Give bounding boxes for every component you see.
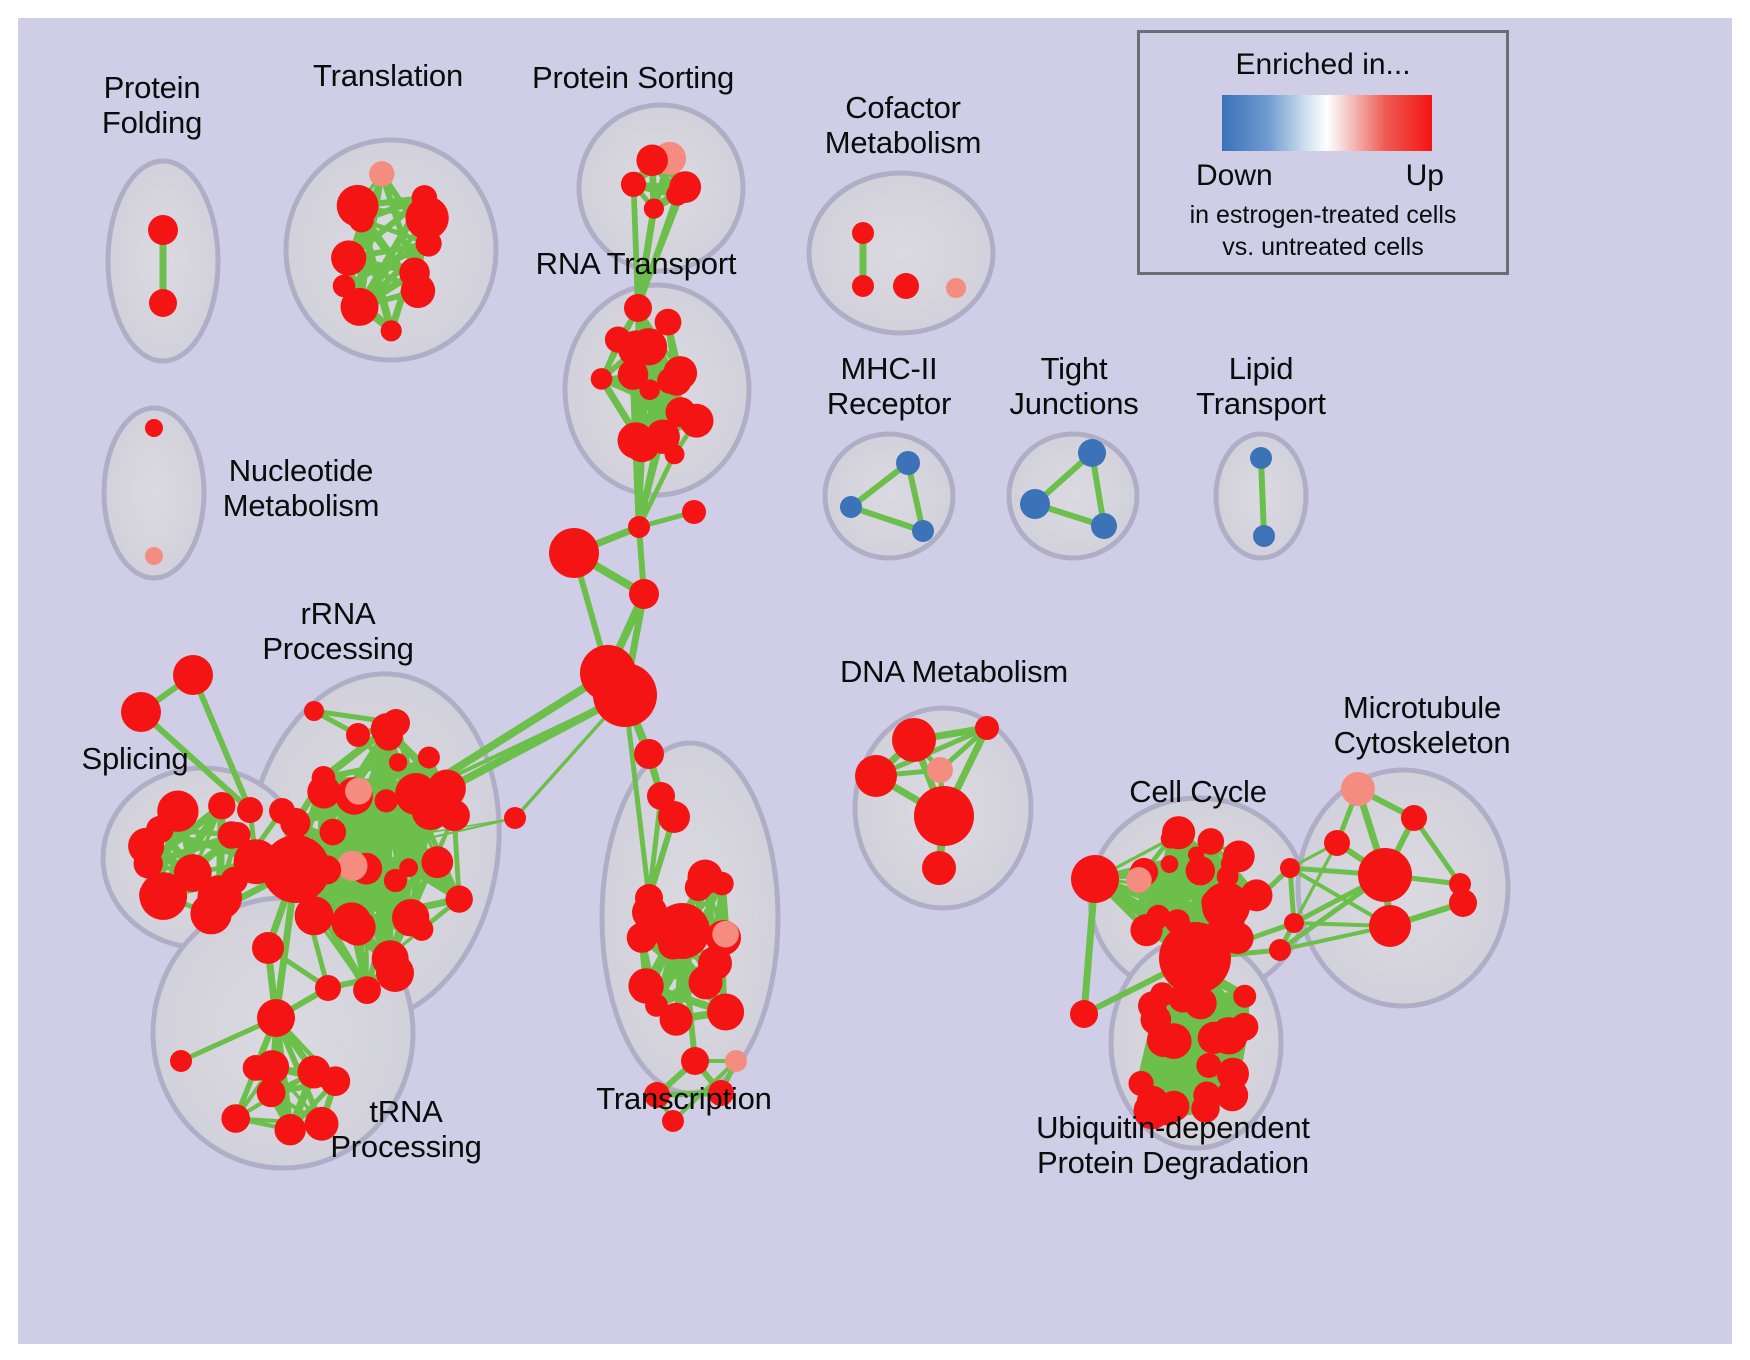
network-node xyxy=(1253,525,1275,547)
network-node xyxy=(707,994,744,1031)
cluster-label-ubiquitin-protein-degradation: Ubiquitin-dependent Protein Degradation xyxy=(1036,1110,1310,1180)
network-node xyxy=(269,798,295,824)
network-node xyxy=(337,851,367,881)
legend-color-bar xyxy=(1222,95,1432,151)
network-node xyxy=(381,320,402,341)
network-node xyxy=(438,800,470,832)
network-node xyxy=(333,275,356,298)
network-node xyxy=(665,444,685,464)
network-edge xyxy=(1261,458,1264,536)
network-node xyxy=(1280,858,1300,878)
figure-root: Protein FoldingTranslationNucleotide Met… xyxy=(0,0,1750,1360)
network-node xyxy=(896,451,920,475)
network-node xyxy=(1070,1000,1098,1028)
network-node xyxy=(852,222,874,244)
network-node xyxy=(221,867,248,894)
cluster-label-protein-folding: Protein Folding xyxy=(102,70,202,140)
cluster-label-nucleotide-metabolism: Nucleotide Metabolism xyxy=(223,453,380,523)
network-node xyxy=(927,757,953,783)
network-node xyxy=(221,1104,250,1133)
network-node xyxy=(639,982,657,1000)
legend-low-label: Down xyxy=(1196,159,1273,193)
network-node xyxy=(1161,829,1181,849)
network-node xyxy=(1250,447,1272,469)
cluster-label-cell-cycle: Cell Cycle xyxy=(1129,774,1267,809)
network-node xyxy=(146,816,173,843)
network-node xyxy=(410,918,433,941)
legend-box: Enriched in... Down Up in estrogen-treat… xyxy=(1137,30,1509,275)
network-node xyxy=(174,854,212,892)
network-canvas: Protein FoldingTranslationNucleotide Met… xyxy=(18,18,1732,1344)
legend-title: Enriched in... xyxy=(1140,48,1506,82)
network-node xyxy=(644,199,664,219)
network-node xyxy=(635,884,663,912)
network-node xyxy=(1193,1082,1220,1109)
network-node xyxy=(1146,910,1167,931)
network-node xyxy=(375,789,398,812)
network-node xyxy=(315,975,341,1001)
network-node xyxy=(252,932,284,964)
network-node xyxy=(855,755,897,797)
network-node xyxy=(418,747,440,769)
network-node xyxy=(1216,1080,1248,1112)
network-node xyxy=(321,1066,351,1096)
network-node xyxy=(309,913,329,933)
network-node xyxy=(1161,855,1179,873)
network-node xyxy=(399,258,430,289)
network-node xyxy=(639,379,660,400)
network-node xyxy=(446,885,473,912)
network-node xyxy=(655,309,682,336)
cluster-mhc-ii-receptor xyxy=(825,434,953,558)
network-node xyxy=(1230,1013,1258,1041)
network-node xyxy=(421,846,453,878)
network-node xyxy=(320,819,347,846)
cluster-label-mhc-ii-receptor: MHC-II Receptor xyxy=(827,351,951,421)
network-node xyxy=(975,716,999,740)
network-node xyxy=(1221,855,1239,873)
cluster-label-lipid-transport: Lipid Transport xyxy=(1196,351,1326,421)
network-node xyxy=(1241,879,1273,911)
network-node xyxy=(257,1078,286,1107)
network-node xyxy=(243,1055,269,1081)
network-node xyxy=(275,1114,306,1145)
network-node xyxy=(657,368,683,394)
network-node xyxy=(685,874,712,901)
network-node xyxy=(710,872,734,896)
cluster-label-tight-junctions: Tight Junctions xyxy=(1009,351,1138,421)
cluster-label-transcription: Transcription xyxy=(596,1081,771,1116)
legend-high-label: Up xyxy=(1406,159,1444,193)
network-node xyxy=(1214,895,1235,916)
network-node xyxy=(689,965,723,999)
network-node xyxy=(893,273,919,299)
network-node xyxy=(139,878,172,911)
network-node xyxy=(1401,805,1427,831)
network-node xyxy=(225,822,251,848)
network-node xyxy=(1129,1071,1154,1096)
network-node xyxy=(134,849,163,878)
network-node xyxy=(331,240,366,275)
network-node xyxy=(208,792,235,819)
network-node xyxy=(914,786,974,846)
network-node xyxy=(416,230,442,256)
network-node xyxy=(345,778,372,805)
network-node xyxy=(1341,772,1375,806)
network-node xyxy=(121,692,161,732)
network-node xyxy=(346,723,370,747)
cluster-label-translation: Translation xyxy=(313,58,463,93)
network-node xyxy=(922,851,956,885)
network-node xyxy=(1188,847,1204,863)
network-node xyxy=(681,1047,709,1075)
network-node xyxy=(1358,848,1412,902)
network-node xyxy=(1269,939,1291,961)
cluster-label-trna-processing: tRNA Processing xyxy=(330,1094,481,1164)
network-node xyxy=(946,278,966,298)
network-node xyxy=(312,766,336,790)
network-node xyxy=(624,294,652,322)
network-node xyxy=(647,782,675,810)
network-node xyxy=(349,208,374,233)
network-node xyxy=(712,921,739,948)
network-node xyxy=(591,368,613,390)
network-node xyxy=(1233,985,1256,1008)
network-node xyxy=(237,797,263,823)
cluster-label-rna-transport: RNA Transport xyxy=(536,246,737,281)
network-node xyxy=(369,161,394,186)
network-node xyxy=(190,893,231,934)
cluster-label-splicing: Splicing xyxy=(82,741,189,776)
network-node xyxy=(1196,931,1215,950)
network-node xyxy=(725,1050,747,1072)
network-node xyxy=(636,145,668,177)
network-node xyxy=(840,496,862,518)
network-node xyxy=(1188,958,1214,984)
network-node xyxy=(382,709,410,737)
network-node xyxy=(1078,439,1106,467)
cluster-label-protein-sorting: Protein Sorting xyxy=(532,60,734,95)
network-node xyxy=(675,927,694,946)
network-node xyxy=(852,275,874,297)
network-node xyxy=(549,528,599,578)
cluster-label-cofactor-metabolism: Cofactor Metabolism xyxy=(825,90,982,160)
network-node xyxy=(389,753,407,771)
cluster-label-microtubule-cytoskeleton: Microtubule Cytoskeleton xyxy=(1334,690,1511,760)
network-node xyxy=(312,855,341,884)
network-node xyxy=(399,858,418,877)
network-node xyxy=(353,976,381,1004)
legend-subtitle-line1: in estrogen-treated cells xyxy=(1140,201,1506,230)
network-node xyxy=(666,184,688,206)
network-node xyxy=(148,215,178,245)
network-node xyxy=(304,701,324,721)
network-node xyxy=(412,185,438,211)
legend-subtitle-line2: vs. untreated cells xyxy=(1140,233,1506,262)
network-node xyxy=(605,327,631,353)
network-node xyxy=(629,579,659,609)
network-node xyxy=(257,999,295,1037)
cluster-label-dna-metabolism: DNA Metabolism xyxy=(840,654,1068,689)
network-node xyxy=(1449,873,1471,895)
network-node xyxy=(170,1050,192,1072)
network-node xyxy=(1284,913,1304,933)
network-node xyxy=(339,909,375,945)
network-node xyxy=(1150,982,1174,1006)
network-node xyxy=(375,946,398,969)
network-node xyxy=(1369,905,1411,947)
network-node xyxy=(145,547,163,565)
network-node xyxy=(627,923,657,953)
network-node xyxy=(682,500,706,524)
cluster-label-rrna-processing: rRNA Processing xyxy=(262,596,413,666)
network-node xyxy=(580,645,636,701)
network-node xyxy=(666,397,696,427)
network-node xyxy=(628,516,650,538)
network-node xyxy=(1324,830,1350,856)
network-node xyxy=(1091,513,1117,539)
network-node xyxy=(145,419,163,437)
network-node xyxy=(149,289,177,317)
network-node xyxy=(1198,1022,1230,1054)
network-node xyxy=(912,520,934,542)
network-node xyxy=(1071,855,1119,903)
network-node xyxy=(621,172,646,197)
network-node xyxy=(1196,1053,1221,1078)
network-node xyxy=(173,655,213,695)
cluster-cofactor-metabolism xyxy=(809,173,993,333)
network-node xyxy=(634,739,664,769)
network-node xyxy=(504,807,526,829)
network-node xyxy=(1126,867,1152,893)
network-node xyxy=(1020,489,1050,519)
network-node xyxy=(892,718,936,762)
